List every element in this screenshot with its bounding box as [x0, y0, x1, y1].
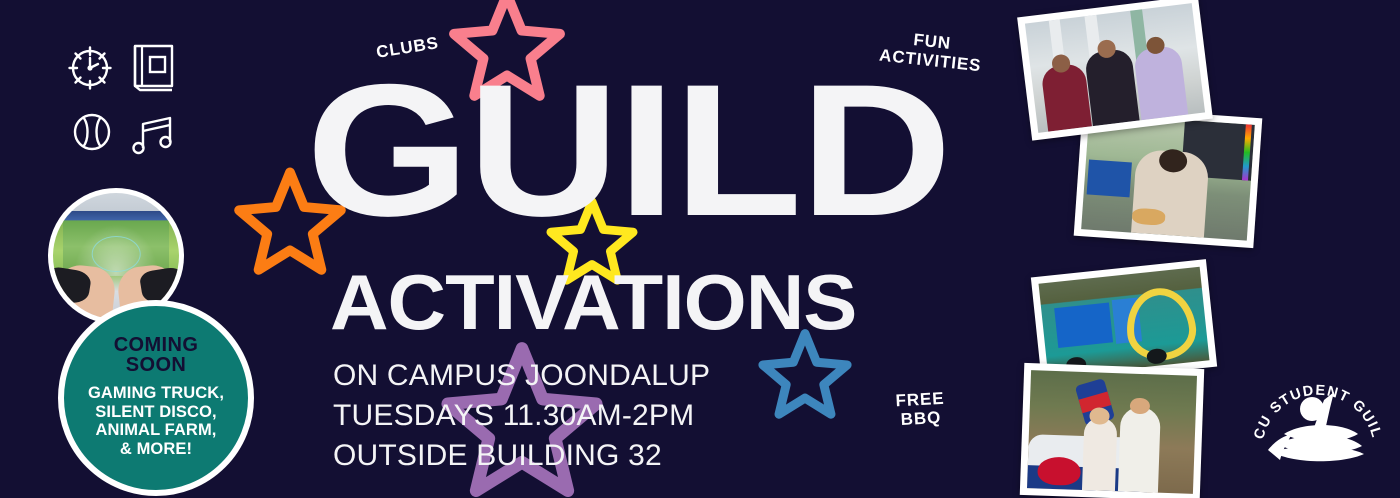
page-subtitle: ACTIVATIONS	[330, 263, 856, 341]
detail-location: ON CAMPUS JOONDALUP	[333, 356, 710, 396]
clock-icon	[66, 44, 114, 92]
tag-free-bbq: FREE BBQ	[895, 389, 946, 430]
coming-soon-heading: COMING SOON	[114, 336, 199, 375]
coming-soon-badge: COMING SOON GAMING TRUCK, SILENT DISCO, …	[58, 300, 254, 496]
detail-building: OUTSIDE BUILDING 32	[333, 436, 710, 476]
guild-activations-banner: COMING SOON GAMING TRUCK, SILENT DISCO, …	[0, 0, 1400, 498]
detail-time: TUESDAYS 11.30AM-2PM	[333, 396, 710, 436]
baseball-icon	[68, 108, 116, 156]
coming-soon-list: GAMING TRUCK, SILENT DISCO, ANIMAL FARM,…	[82, 384, 230, 458]
page-title: GUILD	[306, 72, 950, 230]
photo-red-bull-car	[1020, 363, 1204, 498]
music-note-icon	[130, 108, 178, 156]
book-icon	[128, 42, 178, 94]
activity-icon-cluster	[66, 44, 182, 166]
photo-students-concourse	[1017, 0, 1213, 141]
ecu-student-guild-logo: ECU STUDENT GUILD	[1250, 352, 1386, 480]
event-details: ON CAMPUS JOONDALUP TUESDAYS 11.30AM-2PM…	[333, 356, 710, 476]
